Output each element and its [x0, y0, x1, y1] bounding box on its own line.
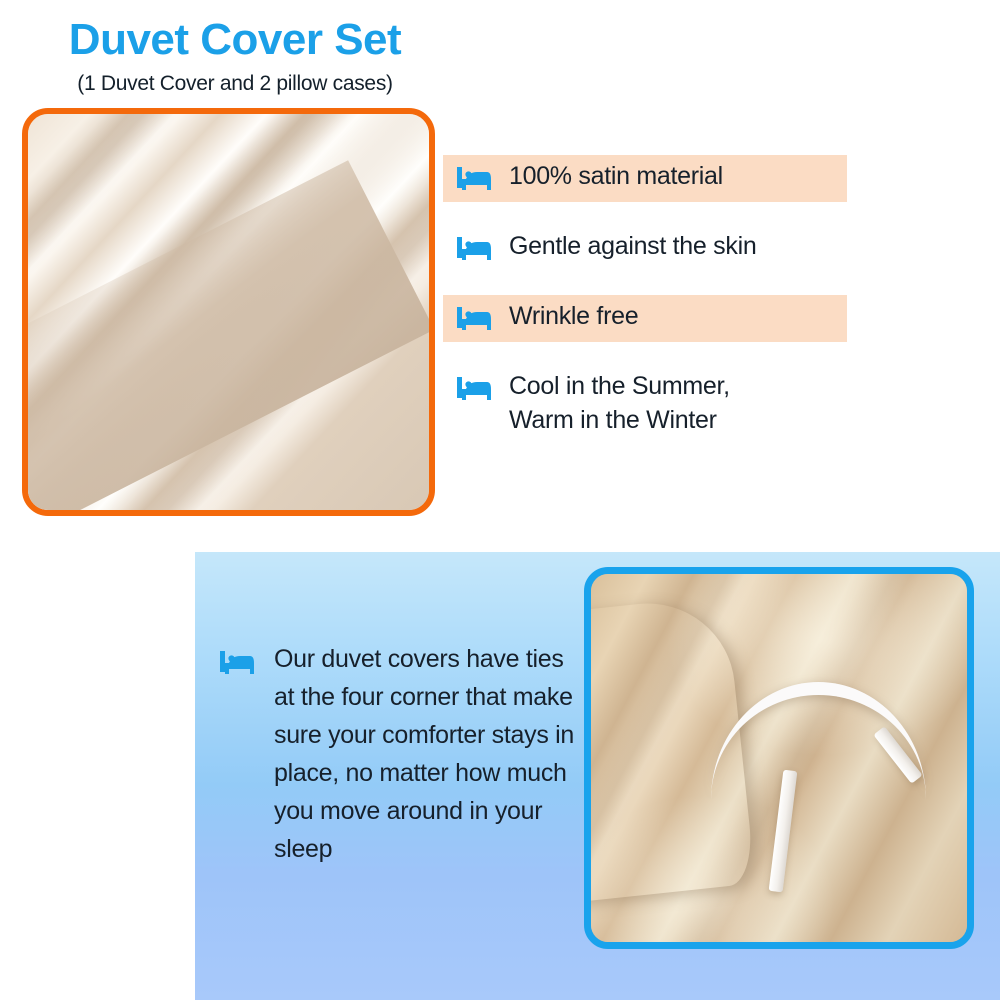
bed-icon — [457, 164, 495, 192]
feature-label: Gentle against the skin — [509, 229, 756, 263]
tie-feature-label: Our duvet covers have ties at the four c… — [274, 640, 590, 868]
feature-label: Wrinkle free — [509, 299, 638, 333]
feature-label: Cool in the Summer, Warm in the Winter — [509, 369, 730, 437]
header: Duvet Cover Set (1 Duvet Cover and 2 pil… — [0, 0, 470, 96]
fabric-photo — [22, 108, 435, 516]
bed-icon — [457, 234, 495, 262]
bed-icon — [220, 648, 258, 676]
bed-icon — [457, 304, 495, 332]
tie-photo — [584, 567, 974, 949]
feature-item: Cool in the Summer, Warm in the Winter — [443, 365, 847, 441]
tie-feature-text-block: Our duvet covers have ties at the four c… — [220, 640, 590, 868]
tie-feature-panel: Our duvet covers have ties at the four c… — [195, 552, 1000, 1000]
page-title: Duvet Cover Set — [0, 0, 470, 62]
feature-label: 100% satin material — [509, 159, 723, 193]
feature-item: Wrinkle free — [443, 295, 847, 342]
feature-item: 100% satin material — [443, 155, 847, 202]
page-subtitle: (1 Duvet Cover and 2 pillow cases) — [0, 62, 470, 96]
bed-icon — [457, 374, 495, 402]
feature-item: Gentle against the skin — [443, 225, 847, 272]
feature-list: 100% satin material Gentle against the s… — [443, 155, 847, 464]
